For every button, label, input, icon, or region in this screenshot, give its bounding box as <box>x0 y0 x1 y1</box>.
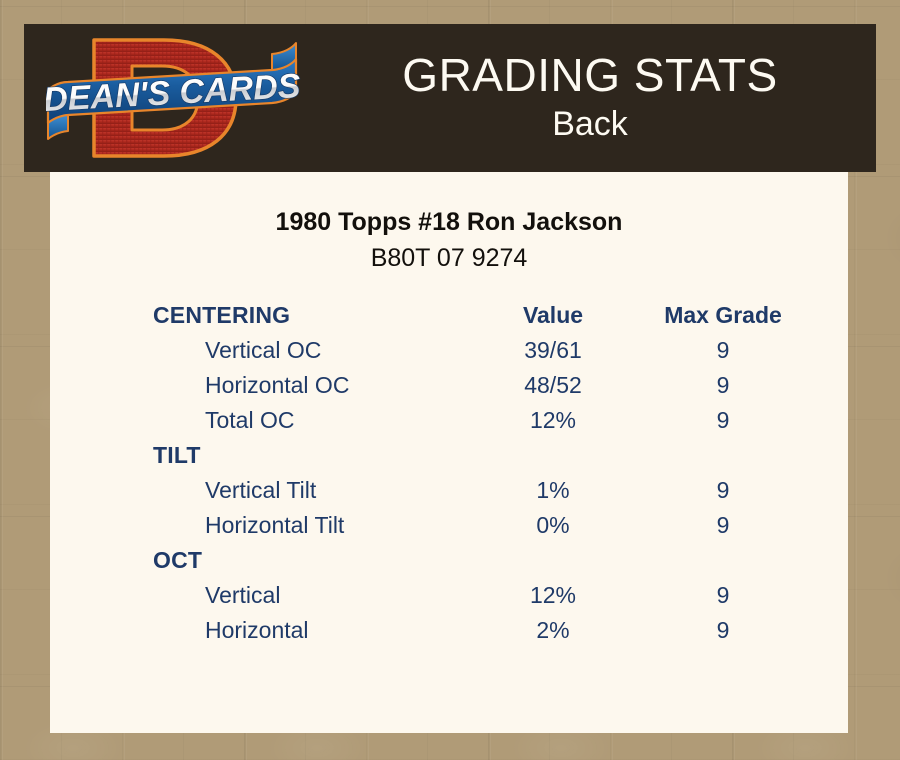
stats-section-row: CENTERINGValueMax Grade <box>50 302 848 337</box>
stats-row: Vertical OC39/619 <box>50 337 848 372</box>
stats-row-label: Vertical <box>205 582 280 609</box>
stats-section-label: TILT <box>153 442 201 469</box>
stats-column-header-max-grade: Max Grade <box>643 302 803 329</box>
stats-row-label: Vertical Tilt <box>205 477 316 504</box>
stats-row-value: 12% <box>473 407 633 434</box>
grading-stats-table: CENTERINGValueMax GradeVertical OC39/619… <box>50 302 848 652</box>
header-bar: DEAN'S CARDS GRADING STATS Back <box>24 24 876 172</box>
stats-row-value: 48/52 <box>473 372 633 399</box>
stats-row-max-grade: 9 <box>643 337 803 364</box>
logo-svg: DEAN'S CARDS <box>46 28 301 168</box>
stats-section-label: CENTERING <box>153 302 290 329</box>
stats-row: Total OC12%9 <box>50 407 848 442</box>
logo-ribbon-text: DEAN'S CARDS <box>46 67 301 119</box>
stats-row-max-grade: 9 <box>643 372 803 399</box>
grading-stats-page: DEAN'S CARDS GRADING STATS Back 1980 Top… <box>0 0 900 760</box>
stats-row-max-grade: 9 <box>643 407 803 434</box>
stats-section-row: TILT <box>50 442 848 477</box>
stats-row-value: 2% <box>473 617 633 644</box>
card-title: 1980 Topps #18 Ron Jackson <box>50 208 848 237</box>
stats-row-label: Horizontal <box>205 617 309 644</box>
content-panel: 1980 Topps #18 Ron Jackson B80T 07 9274 … <box>50 172 848 733</box>
stats-row: Horizontal OC48/529 <box>50 372 848 407</box>
stats-row-value: 1% <box>473 477 633 504</box>
stats-row: Horizontal Tilt0%9 <box>50 512 848 547</box>
deans-cards-logo: DEAN'S CARDS <box>46 28 301 168</box>
stats-row-label: Horizontal Tilt <box>205 512 344 539</box>
stats-section-row: OCT <box>50 547 848 582</box>
stats-row-label: Total OC <box>205 407 294 434</box>
header-title-group: GRADING STATS Back <box>304 24 876 172</box>
stats-row-value: 39/61 <box>473 337 633 364</box>
stats-row-max-grade: 9 <box>643 617 803 644</box>
stats-row: Vertical Tilt1%9 <box>50 477 848 512</box>
stats-column-header-value: Value <box>473 302 633 329</box>
stats-row-label: Horizontal OC <box>205 372 349 399</box>
stats-row-value: 12% <box>473 582 633 609</box>
stats-row-value: 0% <box>473 512 633 539</box>
page-title: GRADING STATS <box>402 51 777 99</box>
stats-row: Vertical12%9 <box>50 582 848 617</box>
stats-row: Horizontal2%9 <box>50 617 848 652</box>
stats-row-label: Vertical OC <box>205 337 321 364</box>
stats-row-max-grade: 9 <box>643 582 803 609</box>
stats-section-label: OCT <box>153 547 202 574</box>
stats-row-max-grade: 9 <box>643 512 803 539</box>
page-subtitle: Back <box>552 103 628 146</box>
card-serial-number: B80T 07 9274 <box>50 244 848 273</box>
stats-row-max-grade: 9 <box>643 477 803 504</box>
